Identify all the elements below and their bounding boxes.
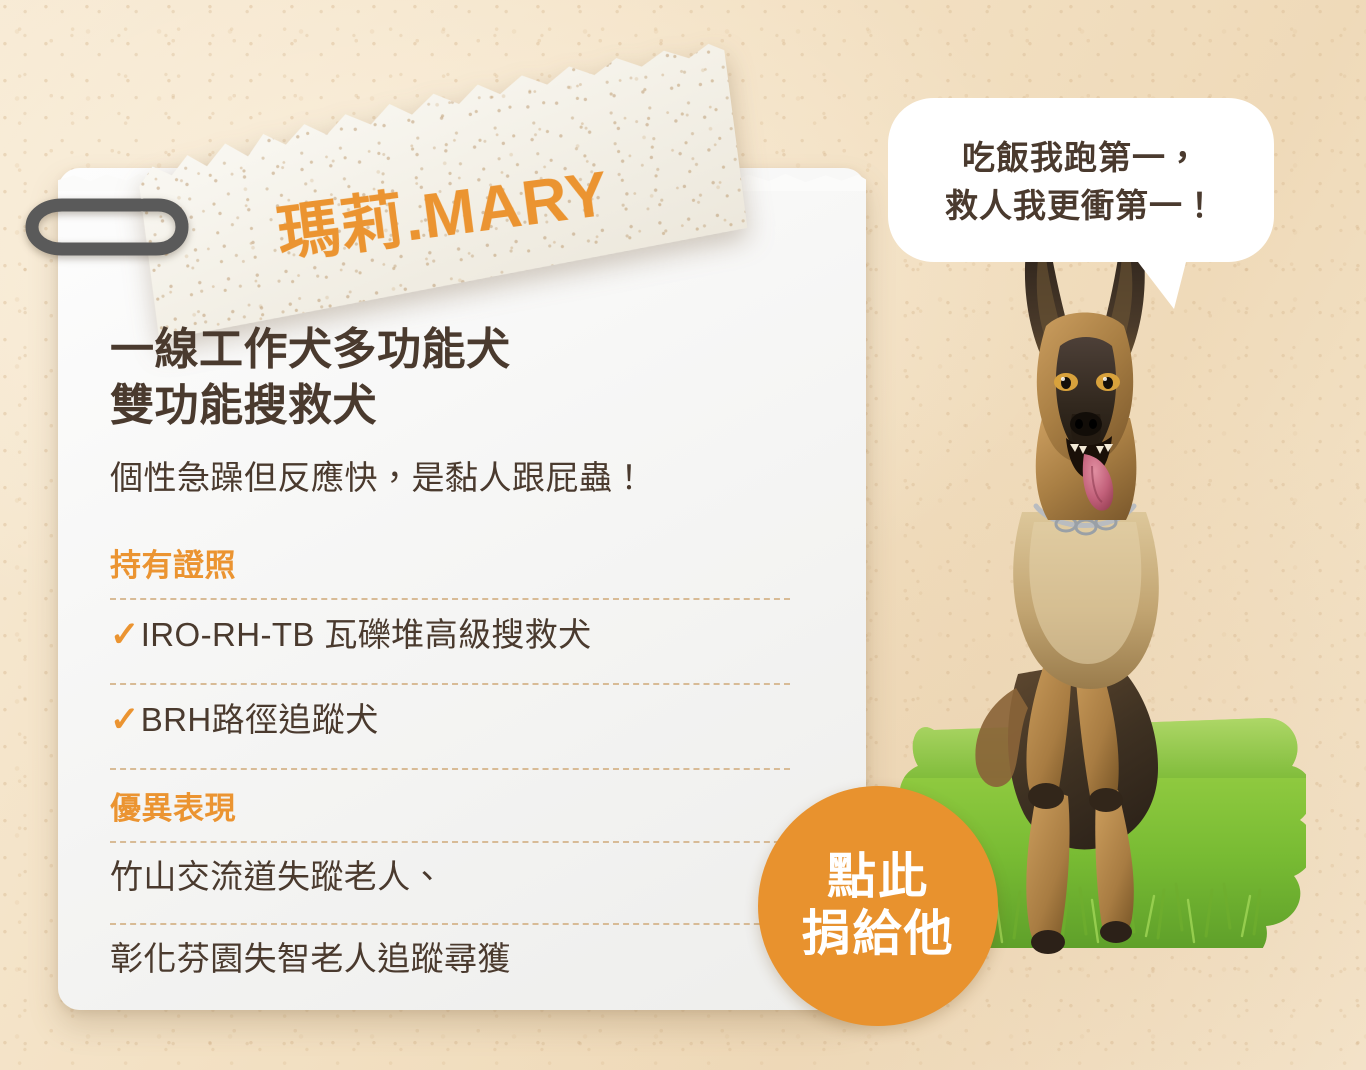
- check-icon: ✓: [110, 700, 140, 739]
- certification-label: IRO-RH-TB 瓦礫堆高級搜救犬: [141, 616, 592, 653]
- card-content: 一線工作犬多功能犬 雙功能搜救犬 個性急躁但反應快，是黏人跟屁蟲！ 持有證照 ✓…: [110, 322, 790, 992]
- speech-bubble: 吃飯我跑第一， 救人我更衝第一！: [886, 96, 1276, 311]
- bubble-text: 吃飯我跑第一， 救人我更衝第一！: [886, 134, 1276, 229]
- headline-line-1: 一線工作犬多功能犬: [110, 322, 790, 378]
- donate-button[interactable]: 點此 捐給他: [758, 786, 998, 1026]
- certifications-heading: 持有證照: [110, 540, 790, 585]
- donate-label-line-1: 點此: [827, 849, 929, 906]
- check-icon: ✓: [110, 615, 140, 654]
- tagline-text: 個性急躁但反應快，是黏人跟屁蟲！: [110, 456, 790, 501]
- bubble-line-2: 救人我更衝第一！: [886, 182, 1276, 230]
- certification-item: ✓IRO-RH-TB 瓦礫堆高級搜救犬: [110, 600, 790, 670]
- bubble-line-1: 吃飯我跑第一，: [886, 134, 1276, 182]
- headline-line-2: 雙功能搜救犬: [110, 378, 790, 434]
- achievement-item: 竹山交流道失蹤老人、: [110, 843, 790, 910]
- dog-nose: [1070, 412, 1102, 436]
- donate-label-line-2: 捐給他: [801, 906, 954, 963]
- divider: [110, 768, 790, 770]
- certification-item: ✓BRH路徑追蹤犬: [110, 685, 790, 755]
- certification-label: BRH路徑追蹤犬: [141, 701, 379, 738]
- achievement-item: 彰化芬園失智老人追蹤尋獲: [110, 925, 790, 992]
- achievements-heading: 優異表現: [110, 783, 790, 828]
- paperclip-icon: [22, 183, 190, 261]
